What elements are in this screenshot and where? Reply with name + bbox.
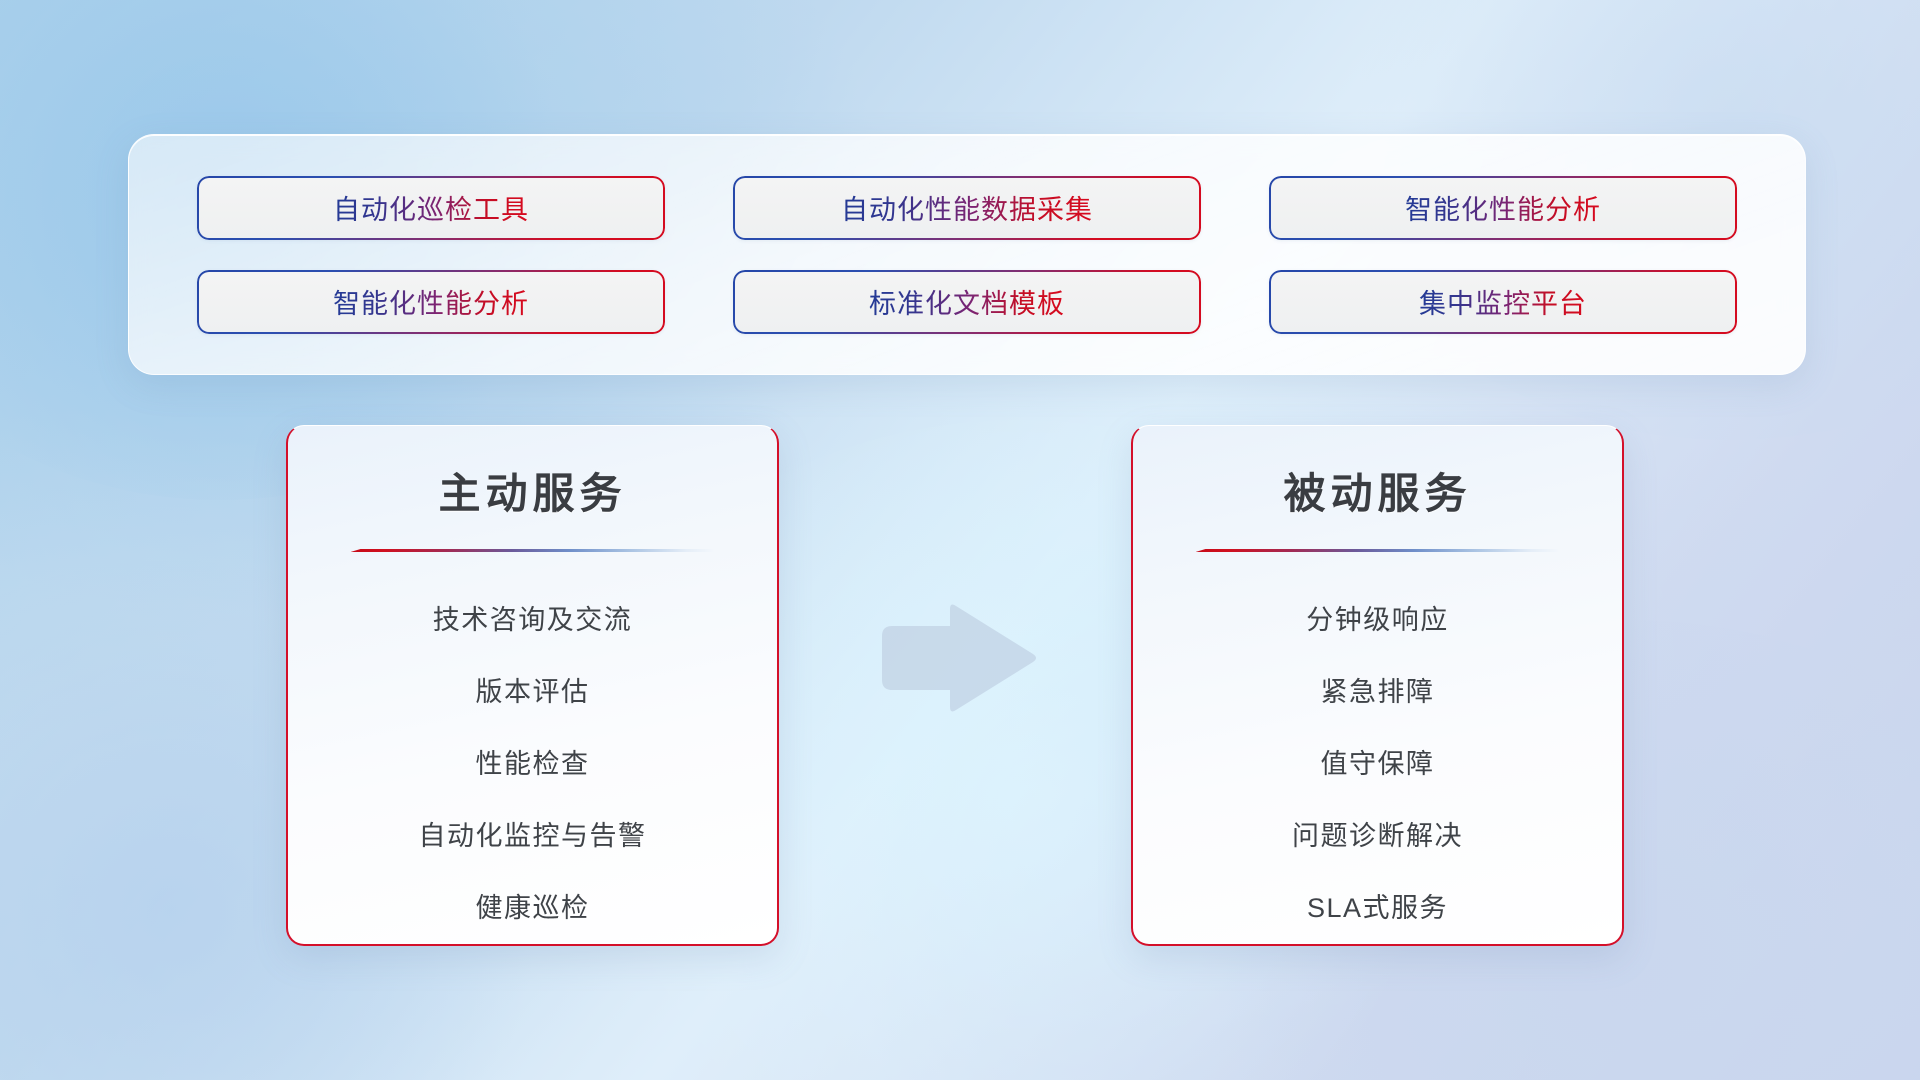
service-item: 性能检查 (476, 728, 590, 800)
arrow-right-icon (876, 602, 1038, 712)
service-card-title: 被动服务 (1283, 460, 1471, 521)
page-canvas: 自动化巡检工具 自动化性能数据采集 智能化性能分析 智能化性能分析 标准化文档模… (0, 0, 1920, 1080)
capability-row-1: 自动化巡检工具 自动化性能数据采集 智能化性能分析 (197, 176, 1737, 240)
service-item: SLA式服务 (1307, 872, 1448, 944)
service-item-list: 技术咨询及交流 版本评估 性能检查 自动化监控与告警 健康巡检 (288, 584, 777, 944)
service-item: 技术咨询及交流 (433, 584, 633, 656)
capability-pill-centralized-monitoring-platform[interactable]: 集中监控平台 (1269, 270, 1737, 334)
capability-pill-standardized-document-template[interactable]: 标准化文档模板 (733, 270, 1201, 334)
service-item: 值守保障 (1321, 728, 1435, 800)
service-item: 分钟级响应 (1306, 584, 1449, 656)
service-item: 紧急排障 (1321, 656, 1435, 728)
capability-pill-intelligent-performance-analysis-2[interactable]: 智能化性能分析 (197, 270, 665, 334)
service-item-list: 分钟级响应 紧急排障 值守保障 问题诊断解决 SLA式服务 (1133, 584, 1622, 944)
capability-pill-label: 集中监控平台 (1419, 282, 1587, 321)
capability-pill-label: 自动化巡检工具 (333, 188, 529, 227)
capability-pill-label: 自动化性能数据采集 (841, 188, 1093, 227)
card-title-divider (1196, 549, 1560, 552)
capability-row-2: 智能化性能分析 标准化文档模板 集中监控平台 (197, 270, 1737, 334)
service-card-reactive: 被动服务 分钟级响应 紧急排障 值守保障 问题诊断解决 SLA式服务 (1131, 425, 1624, 946)
capability-pill-label: 智能化性能分析 (1405, 188, 1601, 227)
capability-pill-automated-inspection-tool[interactable]: 自动化巡检工具 (197, 176, 665, 240)
capability-pill-label: 智能化性能分析 (333, 282, 529, 321)
service-item: 健康巡检 (476, 872, 590, 944)
card-title-divider (351, 549, 715, 552)
capability-panel: 自动化巡检工具 自动化性能数据采集 智能化性能分析 智能化性能分析 标准化文档模… (128, 134, 1806, 375)
capability-pill-label: 标准化文档模板 (869, 282, 1065, 321)
capability-pill-intelligent-performance-analysis[interactable]: 智能化性能分析 (1269, 176, 1737, 240)
service-item: 问题诊断解决 (1292, 800, 1463, 872)
service-item: 自动化监控与告警 (419, 800, 647, 872)
capability-pill-automated-performance-data-collection[interactable]: 自动化性能数据采集 (733, 176, 1201, 240)
service-card-title: 主动服务 (438, 460, 626, 521)
service-item: 版本评估 (476, 656, 590, 728)
service-card-proactive: 主动服务 技术咨询及交流 版本评估 性能检查 自动化监控与告警 健康巡检 (286, 425, 779, 946)
